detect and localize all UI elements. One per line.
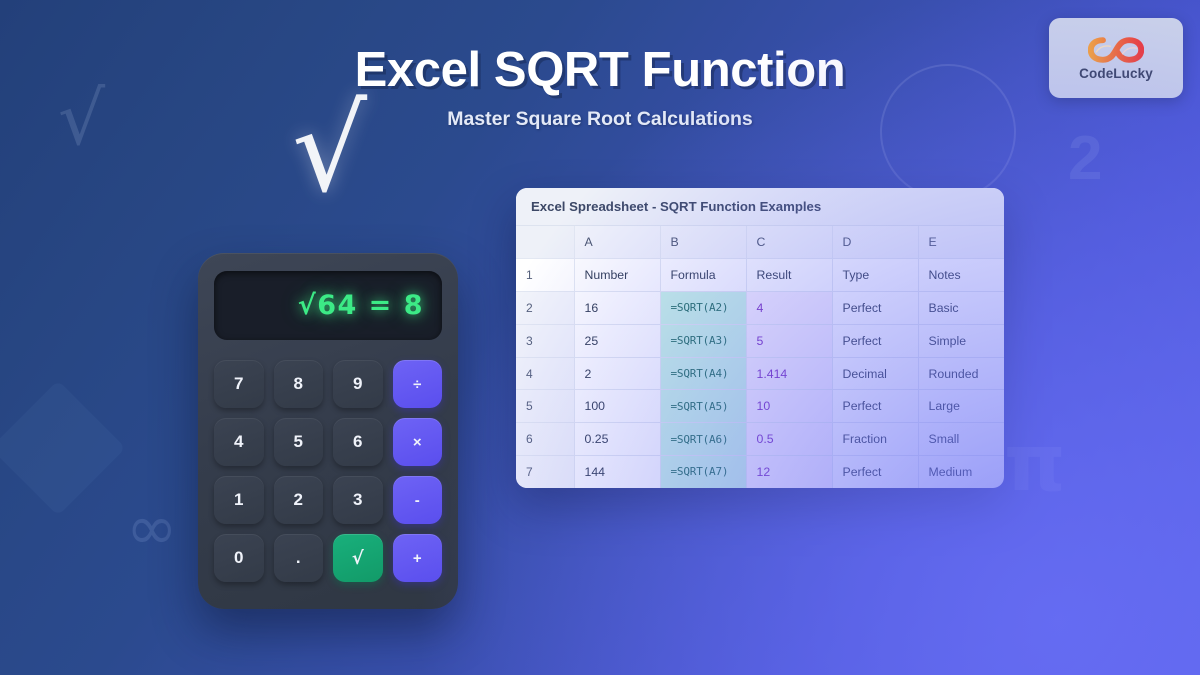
spreadsheet-window: Excel Spreadsheet - SQRT Function Exampl… — [516, 188, 1004, 488]
cell-number[interactable]: 144 — [574, 456, 660, 488]
cell-notes[interactable]: Simple — [918, 324, 1004, 357]
cell-type[interactable]: Decimal — [832, 357, 918, 390]
cell-formula[interactable]: =SQRT(A2) — [660, 292, 746, 325]
table-row: 5100=SQRT(A5)10PerfectLarge — [516, 390, 1004, 423]
infinity-icon — [1088, 35, 1144, 65]
spreadsheet-titlebar: Excel Spreadsheet - SQRT Function Exampl… — [516, 188, 1004, 226]
cell-number[interactable]: 100 — [574, 390, 660, 423]
calculator-display: √64 = 8 — [214, 271, 442, 340]
row-number[interactable]: 4 — [516, 357, 574, 390]
cell-result[interactable]: 5 — [746, 324, 832, 357]
table-row: 1NumberFormulaResultTypeNotes — [516, 259, 1004, 292]
table-row: 7144=SQRT(A7)12PerfectMedium — [516, 456, 1004, 488]
cell-result[interactable]: 10 — [746, 390, 832, 423]
cell-notes[interactable]: Medium — [918, 456, 1004, 488]
cell-formula[interactable]: =SQRT(A3) — [660, 324, 746, 357]
calc-key-4[interactable]: 4 — [214, 418, 264, 466]
row-number[interactable]: 3 — [516, 324, 574, 357]
calc-key-0[interactable]: 0 — [214, 534, 264, 582]
calc-key-6[interactable]: 6 — [333, 418, 383, 466]
header-cell-a[interactable]: Number — [574, 259, 660, 292]
diamond-shape-icon — [0, 380, 126, 516]
logo-label: CodeLucky — [1079, 66, 1153, 81]
column-header-d[interactable]: D — [832, 226, 918, 259]
row-number[interactable]: 5 — [516, 390, 574, 423]
calc-key-sqrt[interactable]: √ — [333, 534, 383, 582]
cell-number[interactable]: 0.25 — [574, 423, 660, 456]
cell-formula[interactable]: =SQRT(A7) — [660, 456, 746, 488]
cell-type[interactable]: Perfect — [832, 324, 918, 357]
table-row: 216=SQRT(A2)4PerfectBasic — [516, 292, 1004, 325]
cell-notes[interactable]: Small — [918, 423, 1004, 456]
calc-key-op-15[interactable]: + — [393, 534, 443, 582]
codelucky-logo: CodeLucky — [1049, 18, 1183, 98]
page-subtitle: Master Square Root Calculations — [0, 108, 1200, 131]
calc-key-9[interactable]: 9 — [333, 360, 383, 408]
cell-formula[interactable]: =SQRT(A6) — [660, 423, 746, 456]
column-header-b[interactable]: B — [660, 226, 746, 259]
cell-number[interactable]: 2 — [574, 357, 660, 390]
table-row: 42=SQRT(A4)1.414DecimalRounded — [516, 357, 1004, 390]
cell-result[interactable]: 4 — [746, 292, 832, 325]
cell-formula[interactable]: =SQRT(A5) — [660, 390, 746, 423]
calc-key-5[interactable]: 5 — [274, 418, 324, 466]
cell-notes[interactable]: Rounded — [918, 357, 1004, 390]
calc-key-2[interactable]: 2 — [274, 476, 324, 524]
calc-key-8[interactable]: 8 — [274, 360, 324, 408]
calc-key-1[interactable]: 1 — [214, 476, 264, 524]
calc-key-decimal[interactable]: . — [274, 534, 324, 582]
cell-result[interactable]: 12 — [746, 456, 832, 488]
calculator-widget: √64 = 8 789÷456×123-0.√+ — [198, 253, 458, 609]
spreadsheet-body: 1NumberFormulaResultTypeNotes216=SQRT(A2… — [516, 259, 1004, 488]
calc-key-op-11[interactable]: - — [393, 476, 443, 524]
grid-corner-cell[interactable] — [516, 226, 574, 259]
calc-key-op-3[interactable]: ÷ — [393, 360, 443, 408]
table-row: 325=SQRT(A3)5PerfectSimple — [516, 324, 1004, 357]
calculator-keypad: 789÷456×123-0.√+ — [214, 360, 442, 582]
calculator-expression: √64 = 8 — [298, 290, 424, 321]
cell-type[interactable]: Perfect — [832, 390, 918, 423]
header-cell-c[interactable]: Result — [746, 259, 832, 292]
calc-key-3[interactable]: 3 — [333, 476, 383, 524]
column-header-c[interactable]: C — [746, 226, 832, 259]
cell-result[interactable]: 1.414 — [746, 357, 832, 390]
header-cell-d[interactable]: Type — [832, 259, 918, 292]
spreadsheet-grid: ABCDE 1NumberFormulaResultTypeNotes216=S… — [516, 226, 1004, 488]
cell-number[interactable]: 25 — [574, 324, 660, 357]
superscript-two-icon: 2 — [1068, 128, 1102, 190]
page-title: Excel SQRT Function — [0, 42, 1200, 98]
table-row: 60.25=SQRT(A6)0.5FractionSmall — [516, 423, 1004, 456]
cell-type[interactable]: Perfect — [832, 292, 918, 325]
poster-canvas: √ √ 2 π ∞ Excel SQRT Function Master Squ… — [0, 0, 1200, 675]
calc-key-7[interactable]: 7 — [214, 360, 264, 408]
row-number[interactable]: 1 — [516, 259, 574, 292]
row-number[interactable]: 6 — [516, 423, 574, 456]
row-number[interactable]: 2 — [516, 292, 574, 325]
cell-number[interactable]: 16 — [574, 292, 660, 325]
header-cell-e[interactable]: Notes — [918, 259, 1004, 292]
cell-result[interactable]: 0.5 — [746, 423, 832, 456]
column-header-row: ABCDE — [516, 226, 1004, 259]
cell-notes[interactable]: Basic — [918, 292, 1004, 325]
pi-symbol-icon: π — [1004, 425, 1066, 503]
column-header-e[interactable]: E — [918, 226, 1004, 259]
infinity-symbol-icon: ∞ — [126, 497, 178, 559]
column-header-a[interactable]: A — [574, 226, 660, 259]
cell-type[interactable]: Perfect — [832, 456, 918, 488]
row-number[interactable]: 7 — [516, 456, 574, 488]
calc-key-op-7[interactable]: × — [393, 418, 443, 466]
header-cell-b[interactable]: Formula — [660, 259, 746, 292]
cell-formula[interactable]: =SQRT(A4) — [660, 357, 746, 390]
cell-type[interactable]: Fraction — [832, 423, 918, 456]
cell-notes[interactable]: Large — [918, 390, 1004, 423]
